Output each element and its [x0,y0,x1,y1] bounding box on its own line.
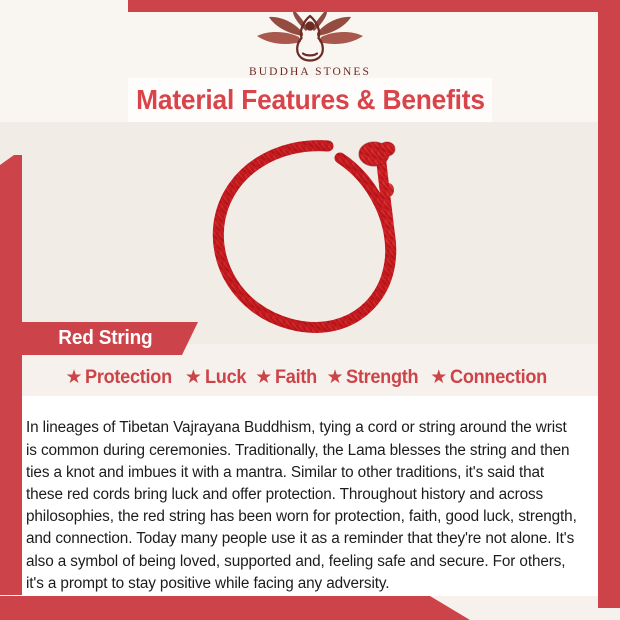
benefits-list: ★ Protection ★ Luck ★ Faith ★ Strength ★… [22,361,598,393]
benefit-label: Protection [85,366,172,389]
product-name-label: Red String [14,327,153,350]
benefit-label: Connection [450,366,547,389]
brand-name: BUDDHA STONES [0,66,620,78]
red-string-bracelet-image [178,132,442,344]
product-name-banner: Red String [10,322,198,355]
page-title: Material Features & Benefits [136,84,485,116]
benefit-label: Strength [346,366,418,389]
star-icon: ★ [255,368,272,387]
benefit-item-protection: ★ Protection [65,366,178,389]
benefit-item-strength: ★ Strength [326,366,424,389]
star-icon: ★ [65,368,82,387]
star-icon: ★ [430,368,447,387]
benefit-label: Luck [205,366,246,389]
frame-bottom-accent-bar [0,596,470,620]
frame-left-accent-bar [0,155,22,595]
frame-right-accent-bar [598,0,620,608]
title-band: Material Features & Benefits [128,78,492,122]
benefit-item-faith: ★ Faith [255,366,320,389]
benefit-item-connection: ★ Connection [430,366,554,389]
brand-logo: BUDDHA STONES [0,12,620,78]
benefit-label: Faith [275,366,317,389]
star-icon: ★ [326,368,343,387]
description-card: In lineages of Tibetan Vajrayana Buddhis… [13,396,598,596]
frame-top-accent-bar [128,0,620,12]
benefit-item-luck: ★ Luck [185,366,249,389]
description-paragraph: In lineages of Tibetan Vajrayana Buddhis… [26,417,581,595]
star-icon: ★ [185,368,202,387]
product-image-area [0,122,620,344]
infographic-card: BUDDHA STONES Material Features & Benefi… [0,0,620,620]
lotus-meditation-figure-icon [251,12,369,64]
